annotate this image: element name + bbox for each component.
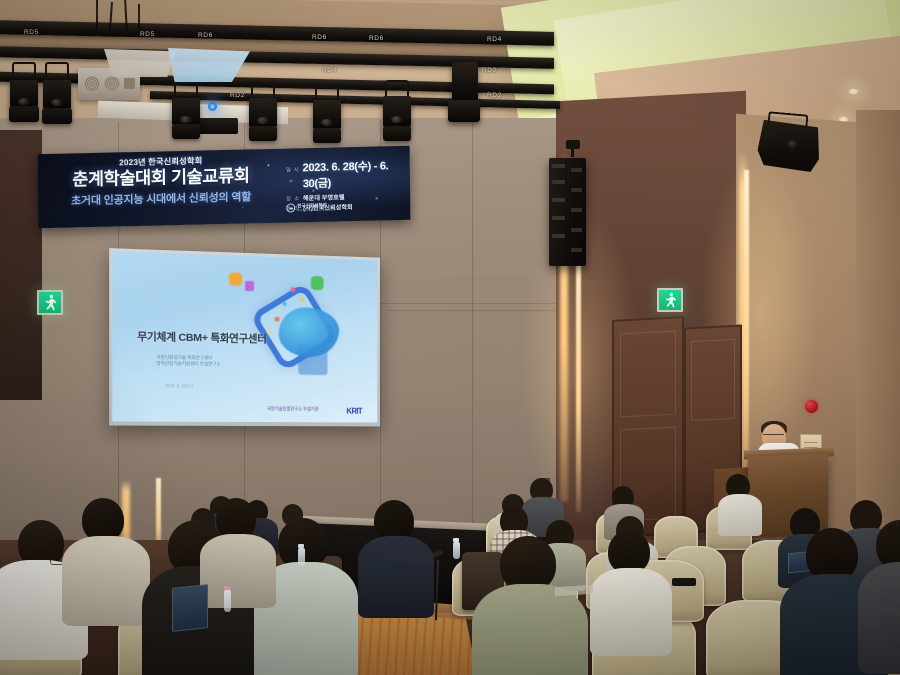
slide-title: 무기체계 CBM+ 특화연구센터 [137,328,266,346]
line-array-speaker [549,158,586,266]
person-body [858,562,900,674]
wall-light-strip [744,170,749,470]
banner-info-key: 일 시 [286,165,300,173]
slide-date: 2023. 6. 28(수) [165,383,193,389]
indicator-led-icon [208,102,217,111]
exit-sign-left [37,290,63,315]
light-lens [18,98,30,105]
slide-logo-text: KRIT [346,406,362,415]
ceiling-projector [196,118,238,134]
light-lens [180,116,192,123]
slide-decor-dot [290,287,295,292]
vent-port [124,78,135,89]
moving-light-yoke [45,62,69,82]
banner-info-value: 2023. 6. 28(수) - 6. 30(금) [303,157,407,191]
projection-screen: 무기체계 CBM+ 특화연구센터 국방신뢰성기술 특화연구센터 방위산업기술지원… [112,251,377,422]
exit-sign-right [657,288,683,312]
speaker-driver-icon [788,140,797,149]
wall-light-strip [576,244,581,512]
exit-sign-face [659,290,681,310]
truss-label: RD2 [487,92,502,99]
bottle-cap [298,544,304,548]
par-can-light [313,128,341,143]
water-bottle[interactable] [224,590,231,612]
downlight-icon [848,88,859,95]
person-body [718,494,762,536]
bottle-cap [224,586,230,590]
person-body [472,584,588,675]
slide-logo: KRIT [346,406,362,415]
society-logo-icon [286,203,295,212]
water-bottle[interactable] [453,542,460,559]
wall-seam [472,122,473,542]
glasses-icon [763,434,784,438]
running-man-icon [663,292,678,308]
person-body [358,536,434,618]
slide-subtitle: 국방신뢰성기술 특화연구센터 방위산업기술지원센터 부설연구소 [156,354,220,369]
laptop[interactable] [172,584,208,632]
moving-light [249,98,277,128]
moving-light [43,80,71,110]
person-body [62,536,150,626]
society-logo-subtext: KOREAN RELIABILITY SOCIETY [297,208,336,212]
person-body [200,534,276,608]
projection-screen-frame: 무기체계 CBM+ 특화연구센터 국방신뢰성기술 특화연구센터 방위산업기술지원… [109,248,380,426]
truss-label: RD4 [487,36,502,43]
slide-decor-dot [266,329,270,333]
moving-light [313,100,341,130]
slide-decor-square [229,272,242,285]
exit-sign-face [39,292,61,313]
water-bottle[interactable] [298,548,305,566]
event-banner: 2023년 한국신뢰성학회 춘계학술대회 기술교류회 초거대 인공지능 시대에서… [38,146,411,228]
truss-label: RD5 [140,31,155,38]
moving-light-yoke [12,62,36,82]
slide-decor-dot [300,297,304,301]
banner-main-text: 2023년 한국신뢰성학회 춘계학술대회 기술교류회 초거대 인공지능 시대에서… [50,153,273,209]
moving-light [383,96,411,128]
par-can-light [172,124,200,139]
slide-organization: 국방기술진흥연구소 부설기관 [267,406,318,412]
banner-info-row: 일 시 2023. 6. 28(수) - 6. 30(금) [286,157,406,192]
moving-light [452,62,478,104]
door-panel [620,331,676,418]
banner-society-logo: 한국신뢰성학회 KOREAN RELIABILITY SOCIETY [286,202,336,212]
slide-decor-blob [279,307,339,358]
moving-light [10,80,38,108]
banner-line-main: 춘계학술대회 기술교류회 [50,166,272,190]
light-lens [257,117,269,124]
light-lens [391,116,403,123]
banner-info-value: 해운대 부영호텔 [303,192,345,202]
moving-light [172,98,200,126]
moving-light [448,100,480,122]
conference-hall-photo: 113 RD5 RD5 RD6 RD6 RD6 RD4 RD4 RD4 RD2 … [0,0,900,675]
vent-grille-icon [104,76,120,92]
running-man-icon [43,294,58,311]
door-panel [691,339,735,421]
par-can-light [9,106,39,122]
vent-grille-icon [84,76,100,92]
truss-label: RD6 [369,35,384,42]
truss-label: RD2 [230,92,245,99]
fire-alarm-icon [805,400,818,413]
par-can-light [249,126,277,141]
reflector-panel [104,49,176,77]
light-lens [51,99,63,106]
slide-decor-dot [274,316,279,321]
truss-cable [138,4,140,30]
wall-seam [386,310,562,311]
slide-decor-dot [282,302,286,306]
light-lens [321,119,333,126]
slide-decor-square [311,276,324,290]
slide-decor-square [245,281,254,291]
par-can-light [383,126,411,141]
left-wall-recess [0,130,42,400]
truss-label: RD6 [312,34,327,41]
person-body [590,568,672,656]
truss-cable [96,0,98,30]
truss-label: RD6 [198,32,213,39]
truss-label: RD5 [24,29,39,36]
bottle-cap [453,538,459,542]
speaker-rigging-arm [571,147,574,157]
banner-info-key: 장 소 [286,194,300,202]
truss-label: RD2 [482,67,497,74]
table-object [672,578,696,586]
par-can-light [42,108,72,124]
truss-label: RD4 [322,67,337,74]
